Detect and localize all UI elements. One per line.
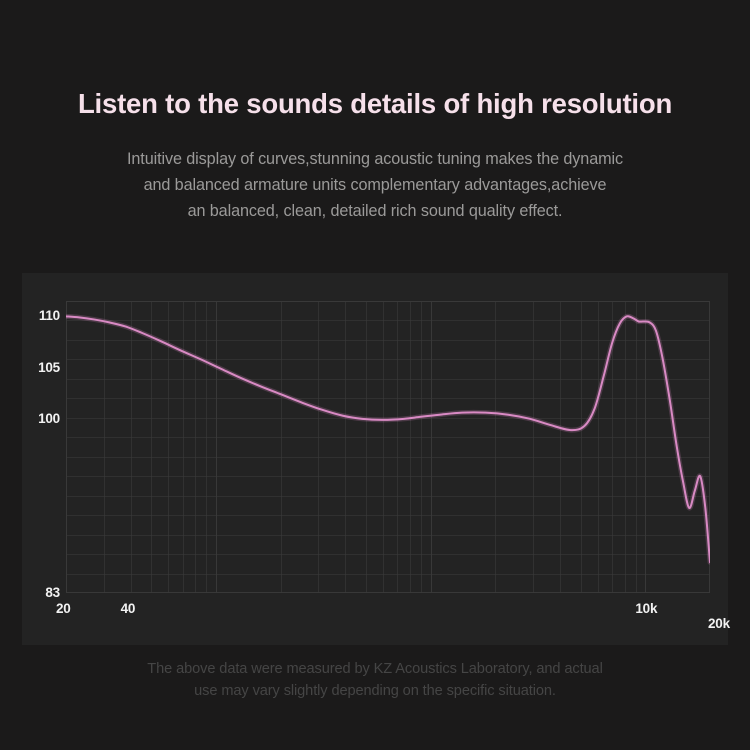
subtitle-block: Intuitive display of curves,stunning aco… — [40, 146, 710, 224]
y-axis-tick-100: 100 — [22, 411, 60, 426]
subtitle-line-1: Intuitive display of curves,stunning aco… — [40, 146, 710, 172]
subtitle-line-2: and balanced armature units complementar… — [40, 172, 710, 198]
response-curve-layer — [66, 316, 710, 562]
subtitle-line-3: an balanced, clean, detailed rich sound … — [40, 198, 710, 224]
frequency-response-plot — [66, 301, 710, 593]
disclaimer-line-2: use may vary slightly depending on the s… — [60, 680, 690, 702]
frequency-response-chart-panel: 11010510083 204010k20k — [22, 273, 728, 645]
x-axis-tick-20: 20 — [56, 601, 71, 616]
plot-area — [66, 301, 710, 593]
x-axis-tick-20k: 20k — [708, 616, 730, 631]
response-curve-glow — [66, 316, 710, 562]
y-axis-tick-110: 110 — [22, 308, 60, 323]
y-axis-tick-105: 105 — [22, 360, 60, 375]
y-axis-tick-83: 83 — [22, 585, 60, 600]
response-curve — [66, 316, 710, 562]
disclaimer-line-1: The above data were measured by KZ Acous… — [60, 658, 690, 680]
disclaimer-block: The above data were measured by KZ Acous… — [60, 658, 690, 702]
promo-page: Listen to the sounds details of high res… — [0, 0, 750, 750]
page-title: Listen to the sounds details of high res… — [0, 88, 750, 120]
x-axis-tick-40: 40 — [121, 601, 136, 616]
x-axis-tick-10k: 10k — [635, 601, 657, 616]
